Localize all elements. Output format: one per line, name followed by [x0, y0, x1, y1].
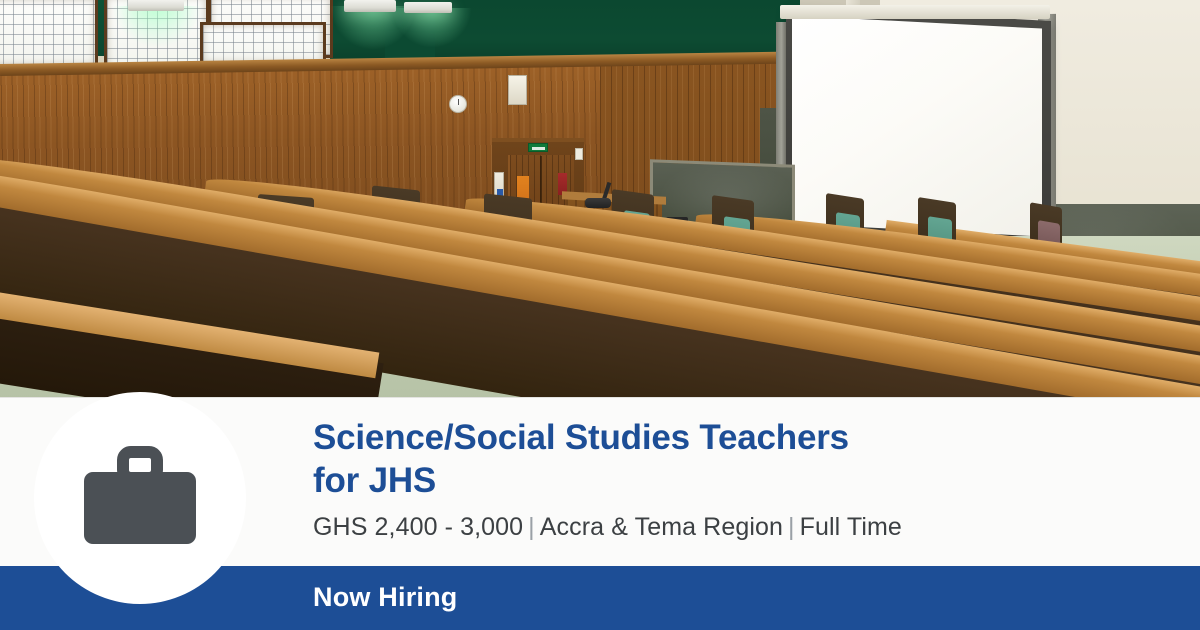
company-logo-badge [34, 392, 246, 604]
job-title-line-1: Science/Social Studies Teachers [313, 416, 1176, 459]
ceiling-lamp-1 [128, 0, 184, 11]
job-salary: GHS 2,400 - 3,000 [313, 513, 523, 541]
ceiling-lamp-glow-1 [112, 6, 202, 48]
job-location: Accra & Tema Region [540, 513, 783, 541]
glass-block-window-1 [0, 0, 98, 68]
meta-separator-2: | [783, 513, 800, 541]
job-title-line-2: for JHS [313, 459, 1176, 502]
ceiling-lamp-3 [404, 2, 452, 13]
ceiling-lamp-glow-3 [392, 8, 472, 48]
job-meta: GHS 2,400 - 3,000|Accra & Tema Region|Fu… [313, 511, 1176, 543]
briefcase-icon [82, 446, 198, 550]
meta-separator-1: | [523, 513, 540, 541]
job-title: Science/Social Studies Teachers for JHS [313, 416, 1176, 502]
wall-speaker [508, 75, 527, 105]
ceiling-lamp-2 [344, 0, 396, 12]
lecture-hall-photo [0, 0, 1200, 397]
wall-clock [449, 95, 467, 113]
job-text-block: Science/Social Studies Teachers for JHS … [313, 416, 1176, 543]
job-posting-card: Science/Social Studies Teachers for JHS … [0, 0, 1200, 630]
equipment-unit [585, 198, 611, 208]
now-hiring-label: Now Hiring [313, 582, 458, 613]
light-switch [575, 148, 583, 160]
exit-sign [528, 143, 548, 152]
projection-screen-case [780, 5, 1050, 19]
job-employment-type: Full Time [800, 513, 902, 541]
